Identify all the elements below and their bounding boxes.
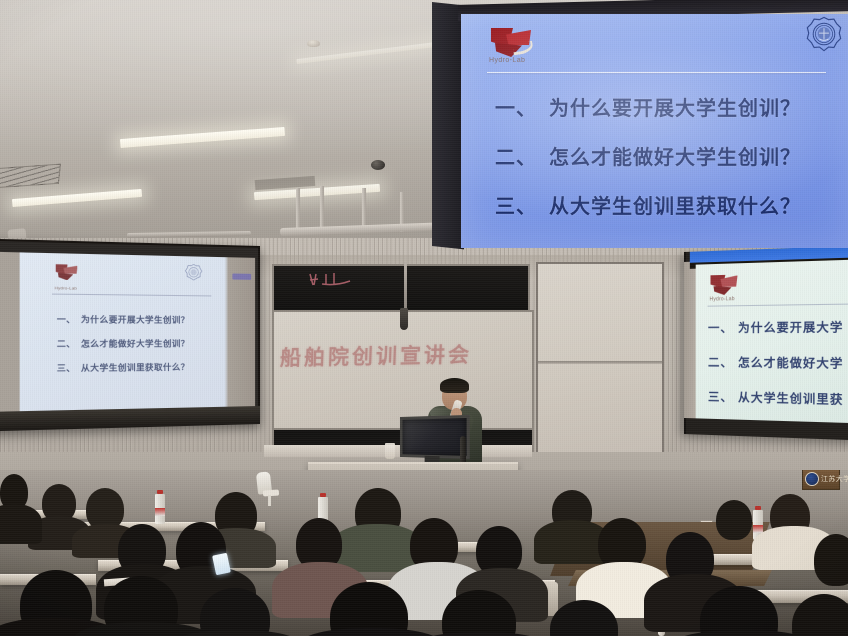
left-screen-spill-area [225, 257, 255, 407]
whiteboard-handwriting: 船舶院创训宣讲会 [279, 338, 530, 376]
slide-question-list: 一、 为什么要开展大学生创训？ 二、 怎么才能做好大学生创训？ 三、 从大学生创… [57, 313, 220, 386]
slide-divider [52, 294, 211, 297]
hydro-lab-wordmark: Hydro-Lab [489, 57, 543, 64]
hydro-lab-logo [710, 274, 740, 297]
slide-divider [708, 303, 848, 307]
slide-question-list: 一、 为什么要开展大学生创训？ 二、 怎么才能做好大学生创训？ 三、 从大学生创… [495, 92, 838, 239]
university-seal [806, 16, 842, 52]
list-item: 二、 怎么才能做好大学 [708, 354, 848, 373]
bottle-cap [755, 506, 761, 510]
list-item-number: 二、 [495, 141, 549, 170]
hydro-lab-logo [55, 264, 79, 281]
list-item: 一、 为什么要开展大学生创训？ [495, 92, 838, 121]
bottle-label [155, 508, 165, 516]
hydro-lab-wordmark: Hydro-Lab [55, 285, 77, 291]
tv-screen[interactable]: Hydro-Lab 一、 为什么要 [461, 14, 848, 248]
wall-plaque: 江苏大学 [802, 470, 840, 490]
right-projection-screen[interactable]: Hydro-Lab 一、 为什么要开展大学 二、 怎么才能做好大学 三、 从大学… [684, 246, 848, 441]
slide-question-list: 一、 为什么要开展大学 二、 怎么才能做好大学 三、 从大学生创训里获 [708, 318, 848, 423]
audience-head [716, 500, 752, 540]
smoke-detector-icon [307, 40, 320, 47]
wall-plaque-text: 江苏大学 [821, 474, 848, 484]
list-item: 三、 从大学生创训里获 [708, 389, 848, 411]
whiteboard-tray-line [538, 361, 662, 364]
list-item-text: 为什么要开展大学生创训？ [549, 92, 838, 121]
list-item-text: 从大学生创训里获取什么？ [549, 190, 838, 219]
tv-side-bezel [432, 2, 464, 249]
university-seal-icon [805, 472, 819, 486]
list-item: 一、 为什么要开展大学生创训？ [57, 313, 220, 326]
left-projection-screen[interactable]: Hydro-Lab 一、 为什么要开展大学生创训？ [0, 239, 260, 432]
presentation-slide: Hydro-Lab 一、 为什么要 [461, 14, 848, 248]
pointer-hanger [404, 262, 407, 310]
list-item: 二、 怎么才能做好大学生创训？ [495, 141, 838, 170]
list-item: 一、 为什么要开展大学 [708, 318, 848, 336]
front-desk-ledge [264, 445, 532, 457]
bottle-cap [157, 490, 163, 494]
hydro-lab-wordmark: Hydro-Lab [710, 296, 735, 303]
left-screen-surface: Hydro-Lab 一、 为什么要开展大学生创训？ [0, 252, 255, 412]
security-camera-icon [371, 160, 385, 170]
hydro-lab-logo: Hydro-Lab [489, 28, 543, 66]
right-screen-projected-slide: Hydro-Lab 一、 为什么要开展大学 二、 怎么才能做好大学 三、 从大学… [696, 260, 848, 424]
list-item-number: 一、 [495, 92, 549, 121]
audience-area: 江苏大学 [0, 470, 848, 636]
list-item: 二、 怎么才能做好大学生创训？ [57, 337, 220, 350]
ceiling-hanger-rod [362, 188, 366, 230]
list-item-text: 怎么才能做好大学生创训？ [549, 141, 838, 170]
list-item: 三、 从大学生创训里获取什么？ [57, 361, 220, 375]
list-item-number: 三、 [495, 190, 549, 219]
main-display-tv[interactable]: Hydro-Lab 一、 为什么要 [432, 0, 848, 248]
marker-pen-icon [400, 308, 408, 330]
list-item: 三、 从大学生创训里获取什么？ [495, 190, 838, 219]
glasses-icon [443, 390, 466, 395]
ceiling-hanger-rod [320, 186, 324, 230]
audience-head [814, 534, 848, 586]
left-screen-projected-slide: Hydro-Lab 一、 为什么要开展大学生创训？ [20, 252, 228, 411]
water-cup [385, 443, 395, 459]
hydro-lab-mark [489, 28, 533, 56]
lecture-hall-photo: Hydro-Lab 一、 为什么要开展大学生创训？ [0, 0, 848, 636]
slide-divider [487, 72, 826, 73]
bottle-cap [320, 493, 326, 497]
dark-board-upper [272, 264, 530, 310]
whiteboard-right [536, 262, 664, 468]
audience-shoulders [0, 504, 42, 544]
microphone-stand [460, 436, 466, 464]
empty-chair [255, 472, 279, 506]
university-seal [184, 264, 201, 282]
board-scribble [306, 272, 372, 288]
ceiling-hanger-rod [296, 188, 300, 228]
taskbar-fragment [232, 273, 251, 279]
